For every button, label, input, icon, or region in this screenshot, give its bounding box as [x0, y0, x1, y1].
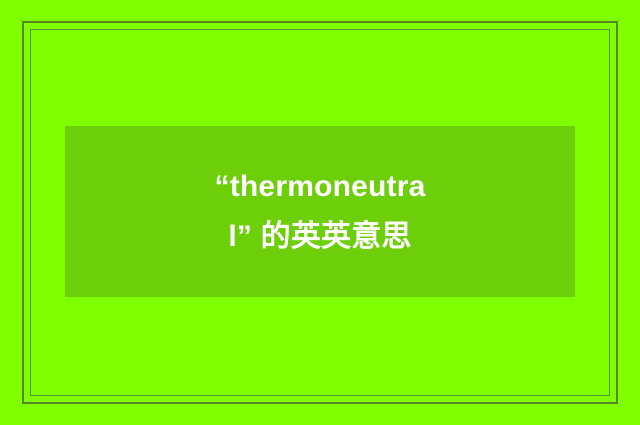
page-title: “thermoneutral” 的英英意思: [205, 162, 435, 262]
page-canvas: “thermoneutral” 的英英意思: [0, 0, 640, 425]
title-panel: “thermoneutral” 的英英意思: [65, 126, 575, 297]
